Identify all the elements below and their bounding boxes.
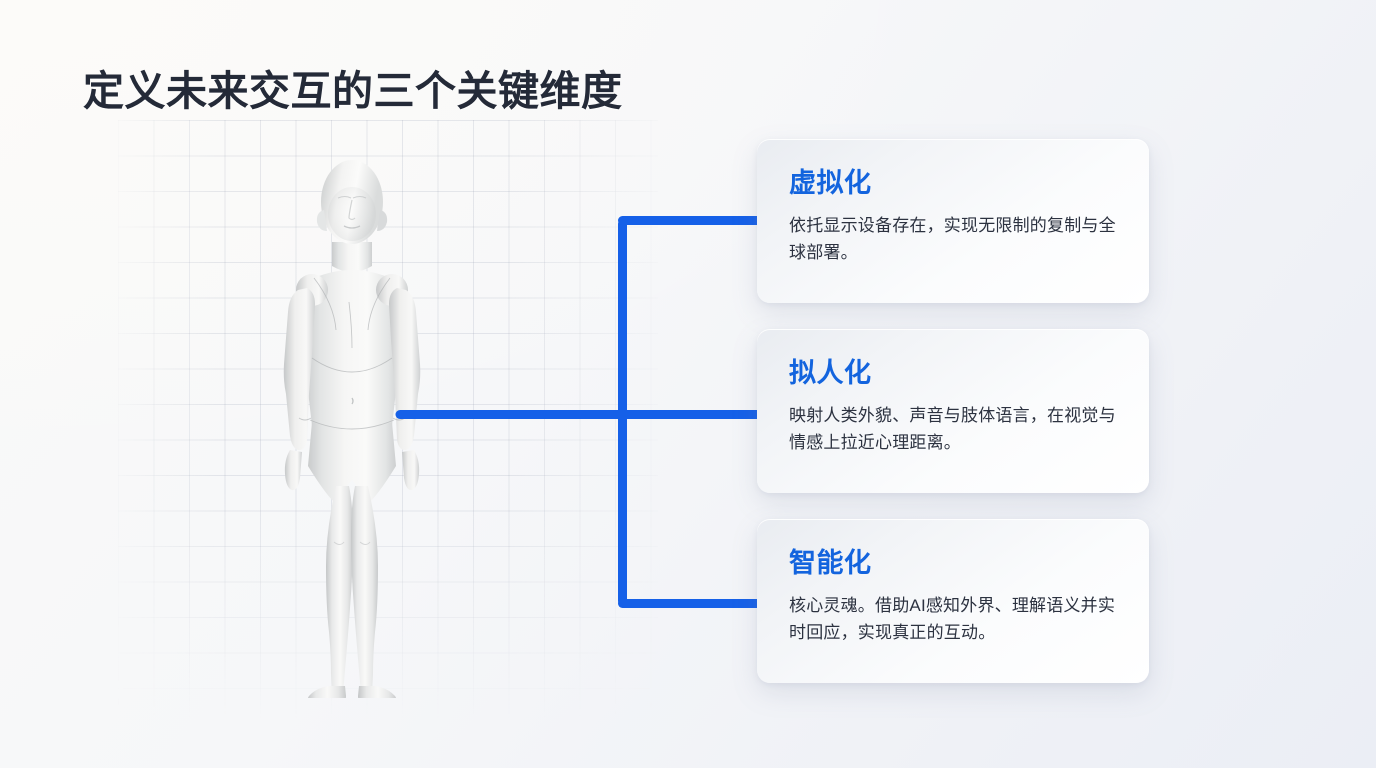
- slide-canvas: 定义未来交互的三个关键维度: [0, 0, 1376, 768]
- dimension-card[interactable]: 智能化 核心灵魂。借助AI感知外界、理解语义并实时回应，实现真正的互动。: [757, 519, 1149, 683]
- dimension-card-body: 依托显示设备存在，实现无限制的复制与全球部署。: [789, 212, 1117, 267]
- dimension-card[interactable]: 虚拟化 依托显示设备存在，实现无限制的复制与全球部署。: [757, 139, 1149, 303]
- dimension-card[interactable]: 拟人化 映射人类外貌、声音与肢体语言，在视觉与情感上拉近心理距离。: [757, 329, 1149, 493]
- dimension-card-body: 核心灵魂。借助AI感知外界、理解语义并实时回应，实现真正的互动。: [789, 592, 1117, 647]
- dimension-card-body: 映射人类外貌、声音与肢体语言，在视觉与情感上拉近心理距离。: [789, 402, 1117, 457]
- dimension-card-title: 拟人化: [789, 359, 1117, 389]
- dimension-card-title: 虚拟化: [789, 169, 1117, 199]
- digital-human-figure: [252, 150, 452, 698]
- page-title: 定义未来交互的三个关键维度: [83, 57, 623, 117]
- dimension-card-title: 智能化: [789, 549, 1117, 579]
